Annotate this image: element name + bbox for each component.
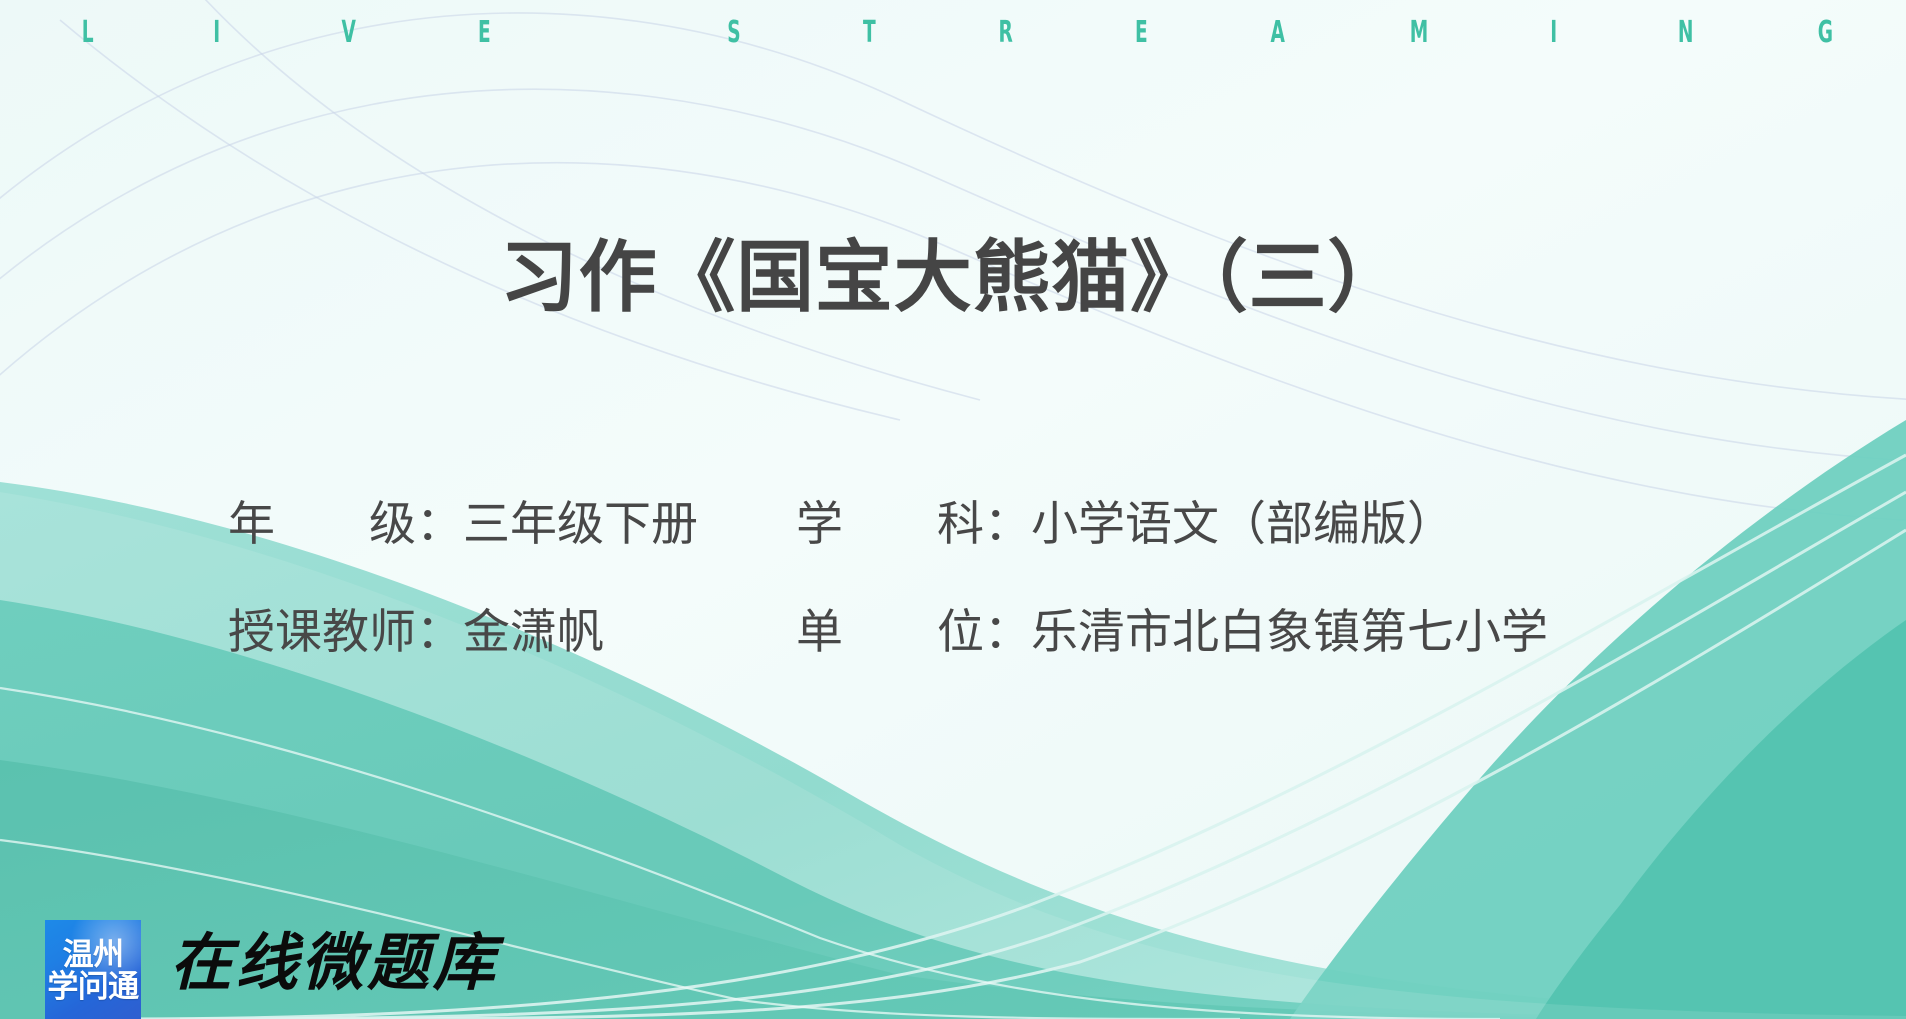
slide-meta-block: 年 级： 三年级下册 学 科： 小学语文（部编版） 授课教师： 金潇帆 单 位：… [228,500,1868,716]
meta-label-school: 单 位： [796,608,1031,655]
meta-field-teacher: 授课教师： 金潇帆 [228,608,796,655]
kicker-letter: M [1409,18,1428,48]
kicker-letter: S [727,18,741,48]
meta-label-grade: 年 级： [228,500,463,547]
meta-label-teacher: 授课教师： [228,608,463,655]
meta-field-school: 单 位： 乐清市北白象镇第七小学 [796,608,1548,655]
kicker-letter: L [82,18,94,48]
kicker-letter: E [478,18,491,48]
brand-wordmark: 在线微题库 [170,915,499,1011]
slide-canvas: L I V E S T R E A M I N G 习作《国宝大熊猫》（三） 年… [0,0,1906,1019]
kicker-letter: E [1135,18,1148,48]
meta-label-subject: 学 科： [796,500,1031,547]
kicker-letter: A [1270,18,1285,48]
meta-row-grade-subject: 年 级： 三年级下册 学 科： 小学语文（部编版） [228,500,1868,608]
meta-field-subject: 学 科： 小学语文（部编版） [796,500,1454,547]
kicker-letter: T [863,18,876,48]
kicker-letter: I [214,18,221,48]
kicker-letter: R [998,18,1013,48]
logo-line-1: 温州 [63,939,124,971]
kicker-letter: N [1678,18,1694,48]
kicker-letter: V [341,18,356,48]
meta-row-teacher-school: 授课教师： 金潇帆 单 位： 乐清市北白象镇第七小学 [228,608,1868,716]
kicker-letter: G [1817,18,1833,48]
meta-value-subject: 小学语文（部编版） [1031,500,1454,547]
meta-value-grade: 三年级下册 [463,500,698,547]
slide-title: 习作《国宝大熊猫》（三） [0,233,1906,323]
meta-value-school: 乐清市北白象镇第七小学 [1031,608,1548,655]
kicker-letter: I [1550,18,1557,48]
logo-line-2: 学问通 [47,971,138,1003]
meta-field-grade: 年 级： 三年级下册 [228,500,796,547]
meta-value-teacher: 金潇帆 [463,608,604,655]
kicker-live-streaming: L I V E S T R E A M I N G [78,18,1838,48]
wenzhou-xuewentong-logo: 温州 学问通 [45,920,141,1019]
